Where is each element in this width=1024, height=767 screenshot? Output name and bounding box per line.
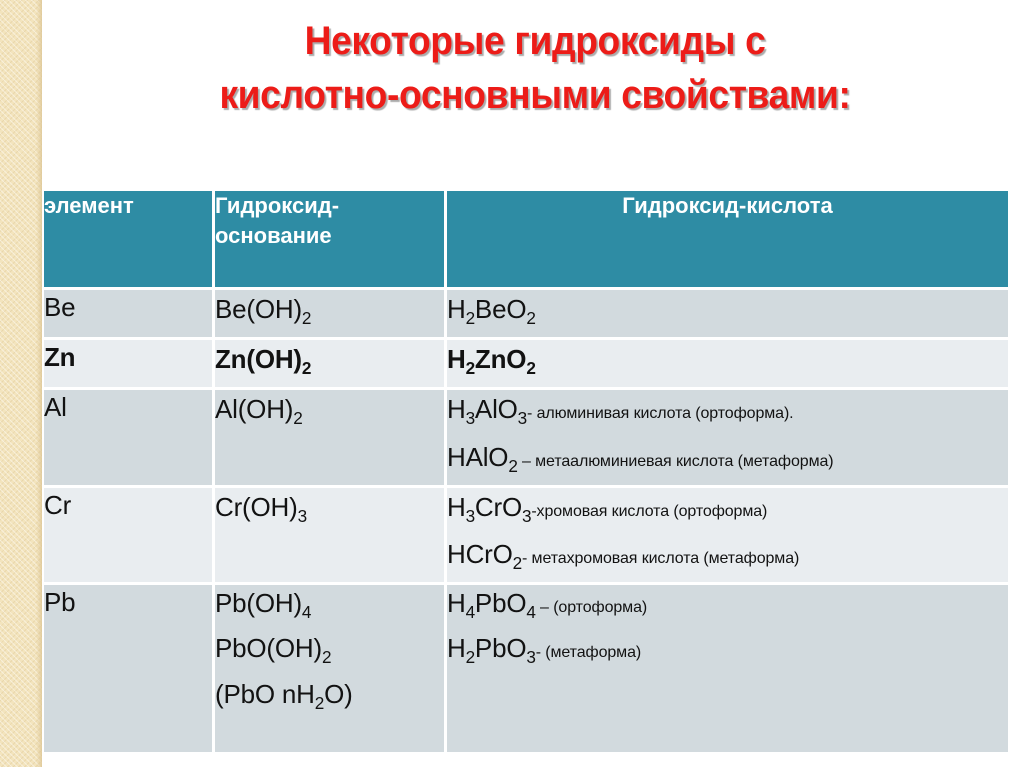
cell-element-symbol: Zn (44, 340, 215, 390)
chemical-formula: Pb(OH)4 (215, 588, 311, 618)
cell-hydroxide-base: Zn(OH)2 (215, 340, 447, 390)
cell-element-symbol: Be (44, 290, 215, 340)
column-header-hydroxide-base-line2: основание (215, 221, 444, 251)
column-header-hydroxide-base-line1: Гидроксид- (215, 191, 444, 221)
table-header-row: элемент Гидроксид- основание Гидроксид-к… (44, 191, 1008, 290)
cell-hydroxide-acid: H3AlO3- алюминивая кислота (ортоформа).H… (447, 390, 1008, 487)
column-header-element: элемент (44, 191, 215, 290)
hydroxides-table: элемент Гидроксид- основание Гидроксид-к… (44, 191, 1008, 755)
slide-decorative-edge-shade (36, 0, 42, 767)
chemical-formula: H4PbO4 (447, 588, 536, 618)
cell-hydroxide-base: Be(OH)2 (215, 290, 447, 340)
table-row: PbPb(OH)4PbO(OH)2(PbO nH2O)H4PbO4 – (орт… (44, 585, 1008, 755)
column-header-hydroxide-base: Гидроксид- основание (215, 191, 447, 290)
table-row: CrCr(OH)3H3CrO3-хромовая кислота (ортофо… (44, 488, 1008, 585)
cell-hydroxide-acid: H4PbO4 – (ортоформа)H2PbO3- (метаформа) (447, 585, 1008, 755)
page-title: Некоторые гидроксиды с кислотно-основным… (60, 14, 1010, 122)
chemical-formula: Be(OH)2 (215, 294, 311, 324)
page-title-line-2: кислотно-основными свойствами: (93, 68, 977, 122)
chemical-formula: H2ZnO2 (447, 344, 536, 374)
chemical-formula: Cr(OH)3 (215, 492, 307, 522)
cell-hydroxide-acid: H3CrO3-хромовая кислота (ортоформа)HCrO2… (447, 488, 1008, 585)
cell-hydroxide-base: Cr(OH)3 (215, 488, 447, 585)
chemical-formula: PbO(OH)2 (215, 633, 331, 663)
chemical-formula: (PbO nH2O) (215, 679, 353, 709)
chemical-formula: H2BeO2 (447, 294, 536, 324)
formula-description: - (метаформа) (536, 644, 641, 661)
chemical-formula: Zn(OH)2 (215, 344, 311, 374)
table-row: AlAl(OH)2H3AlO3- алюминивая кислота (орт… (44, 390, 1008, 487)
chemical-formula: HAlO2 (447, 442, 518, 472)
table-row: ZnZn(OH)2H2ZnO2 (44, 340, 1008, 390)
formula-description: - метахромовая кислота (метаформа) (522, 550, 799, 567)
table-body: BeBe(OH)2H2BeO2ZnZn(OH)2H2ZnO2AlAl(OH)2H… (44, 290, 1008, 755)
chemical-formula: H3CrO3 (447, 492, 531, 522)
chemical-formula: Al(OH)2 (215, 394, 303, 424)
cell-element-symbol: Cr (44, 488, 215, 585)
formula-description: - алюминивая кислота (ортоформа). (527, 405, 794, 422)
chemical-formula: H2PbO3 (447, 633, 536, 663)
cell-element-symbol: Al (44, 390, 215, 487)
table-row: BeBe(OH)2H2BeO2 (44, 290, 1008, 340)
page-title-line-1: Некоторые гидроксиды с (93, 14, 977, 68)
formula-description: – метаалюминиевая кислота (метаформа) (518, 453, 834, 470)
formula-description: -хромовая кислота (ортоформа) (531, 503, 767, 520)
chemical-formula: H3AlO3 (447, 394, 527, 424)
cell-hydroxide-acid: H2BeO2 (447, 290, 1008, 340)
cell-hydroxide-acid: H2ZnO2 (447, 340, 1008, 390)
cell-hydroxide-base: Pb(OH)4PbO(OH)2(PbO nH2O) (215, 585, 447, 755)
cell-element-symbol: Pb (44, 585, 215, 755)
column-header-hydroxide-acid: Гидроксид-кислота (447, 191, 1008, 290)
chemical-formula: HCrO2 (447, 539, 522, 569)
table-header: элемент Гидроксид- основание Гидроксид-к… (44, 191, 1008, 290)
cell-hydroxide-base: Al(OH)2 (215, 390, 447, 487)
formula-description: – (ортоформа) (536, 599, 647, 616)
